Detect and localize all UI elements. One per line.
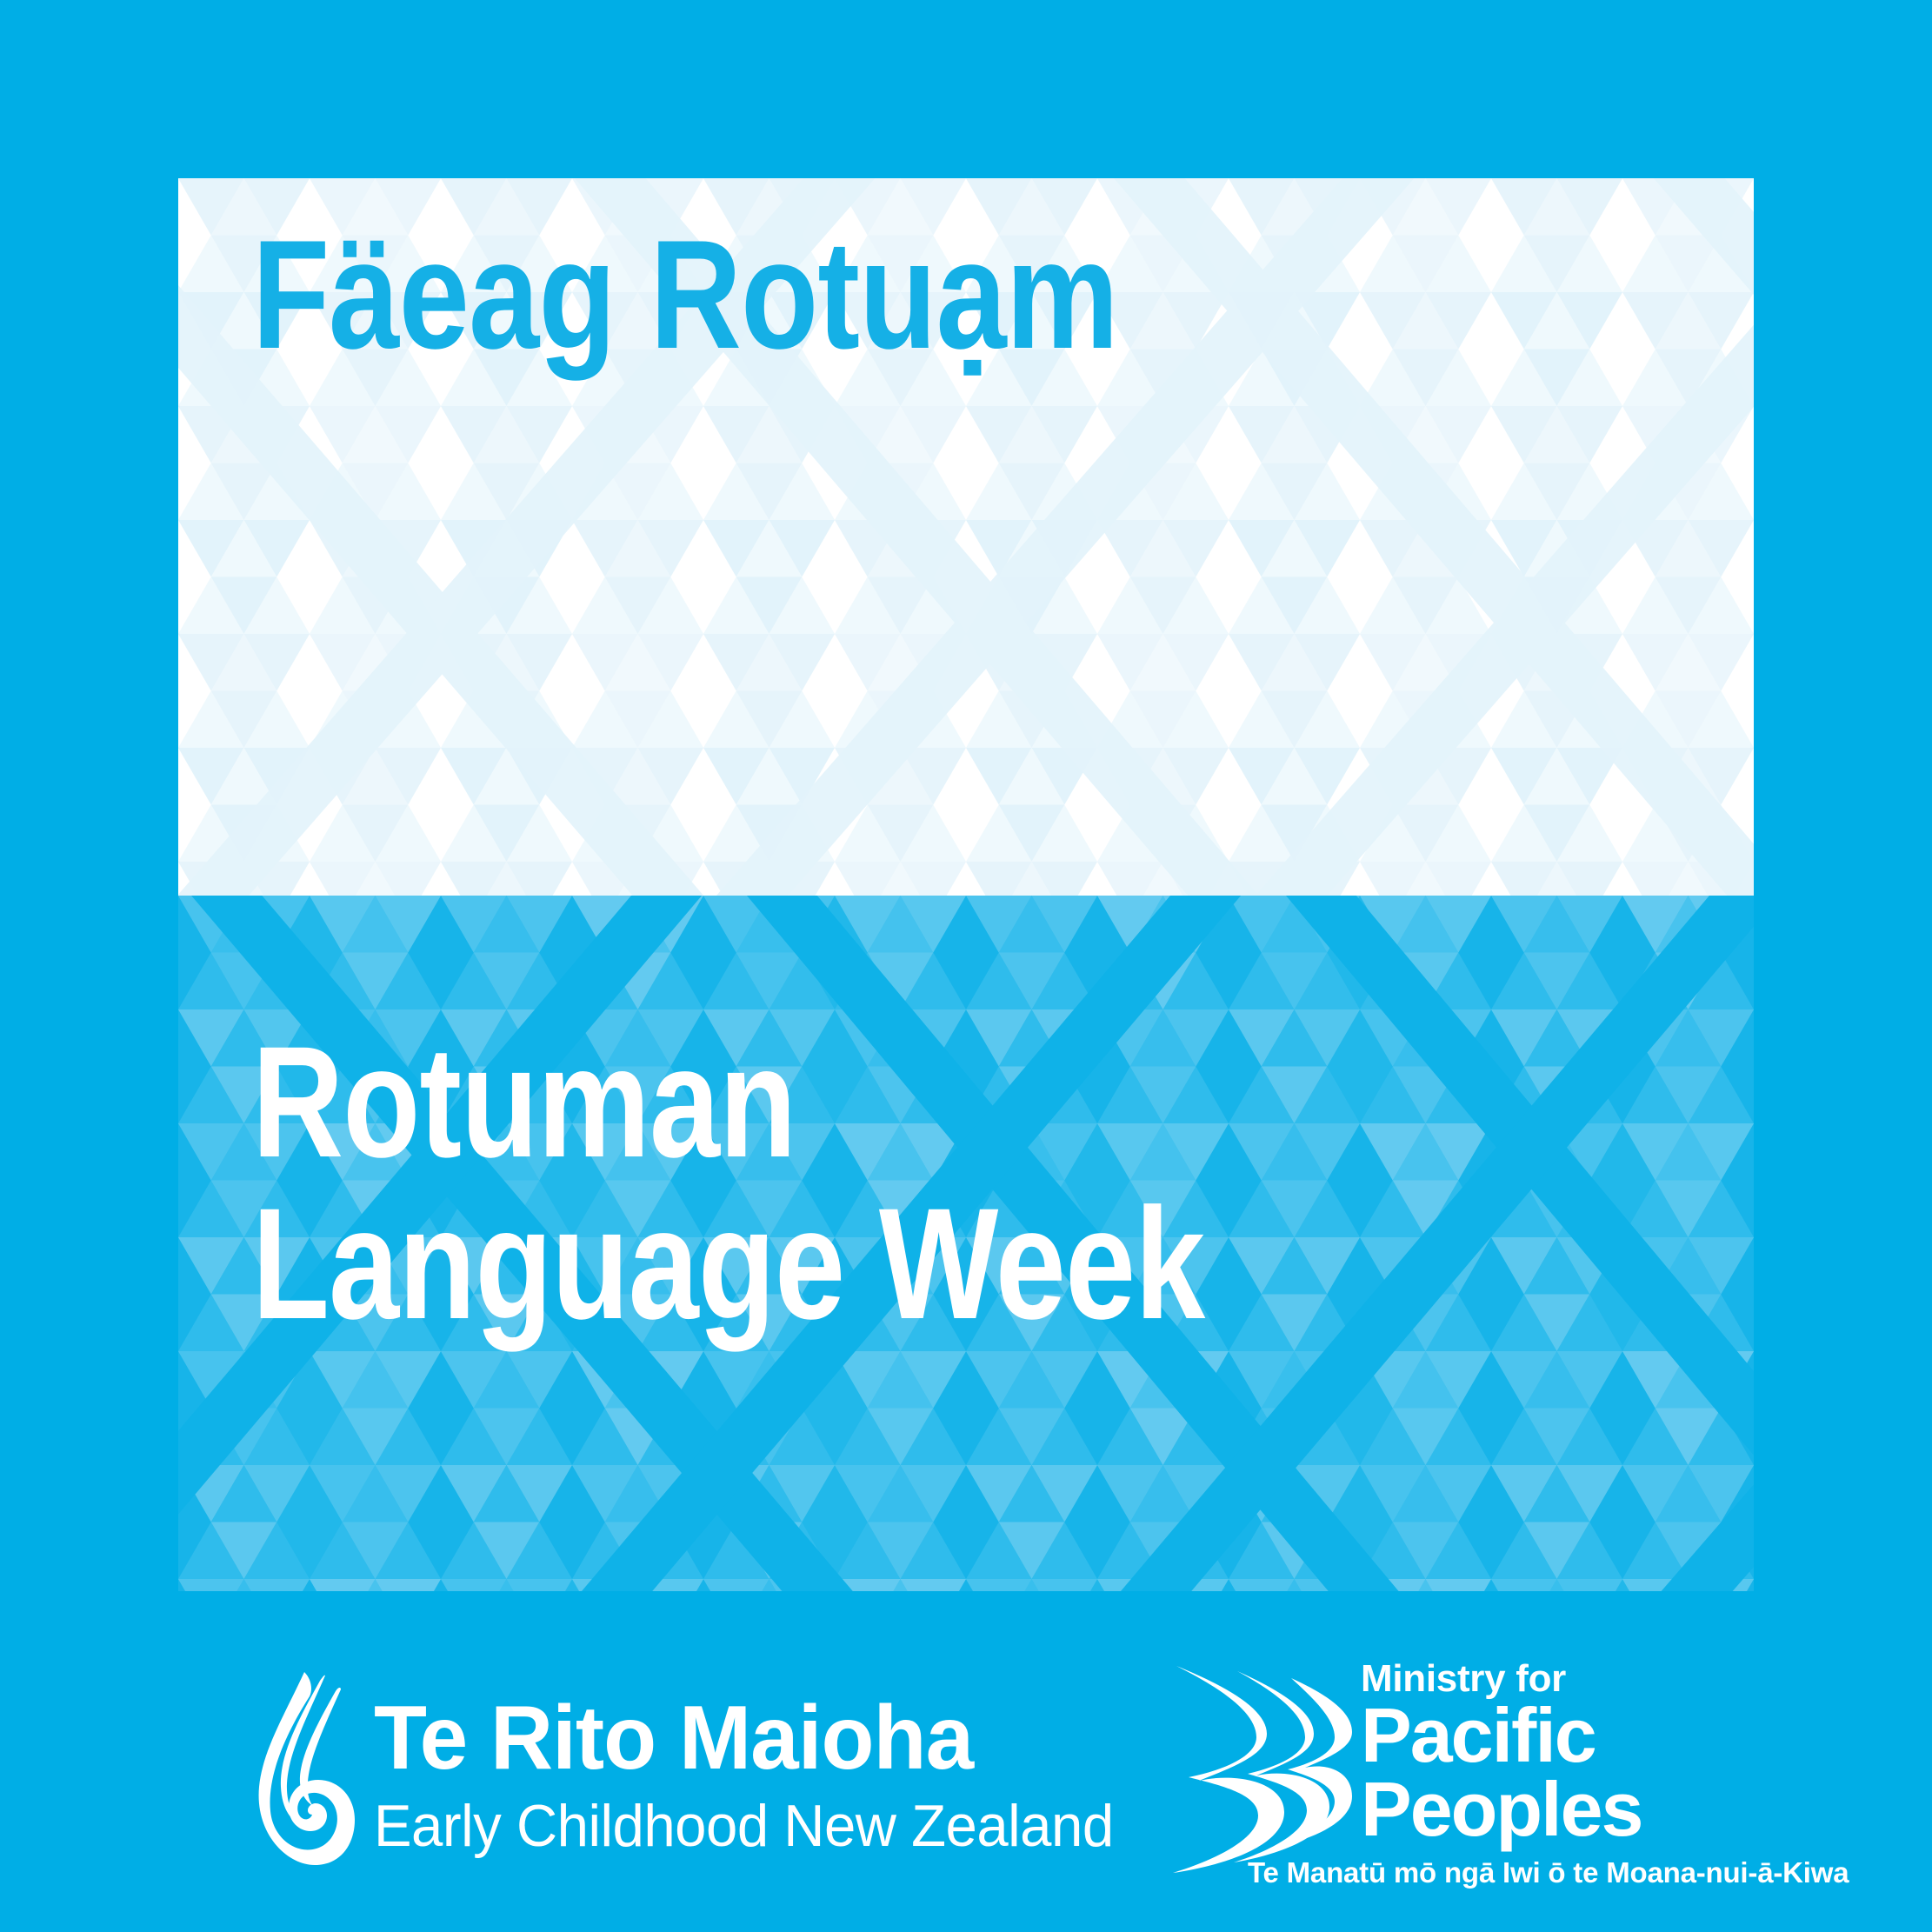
top-panel: Fäeag Rotuạm xyxy=(178,178,1754,896)
logo-te-rito-maioha: Te Rito Maioha Early Childhood New Zeala… xyxy=(250,1674,1144,1870)
logo-mpp-pacific: Pacific xyxy=(1361,1699,1849,1772)
title-english-line2: Language Week xyxy=(252,1183,1449,1345)
footer-logos: Te Rito Maioha Early Childhood New Zeala… xyxy=(0,1626,1932,1913)
three-waves-icon xyxy=(1169,1659,1352,1876)
logo-brand-name: Te Rito Maioha xyxy=(374,1693,1114,1783)
koru-spiral-icon xyxy=(250,1670,355,1870)
poster-card: Fäeag Rotuạm xyxy=(178,178,1754,1591)
title-rotuman-block: Fäeag Rotuạm xyxy=(252,217,1643,372)
logo-brand-tagline: Early Childhood New Zealand xyxy=(374,1792,1114,1860)
logo-te-rito-maioha-text: Te Rito Maioha Early Childhood New Zeala… xyxy=(374,1674,1144,1860)
logo-mpp-text: Ministry for Pacific Peoples Te Manatū m… xyxy=(1361,1659,1849,1887)
bottom-panel: Rotuman Language Week xyxy=(178,896,1754,1591)
title-rotuman-text: Fäeag Rotuạm xyxy=(252,217,1393,372)
poster-root: Fäeag Rotuạm xyxy=(0,0,1932,1932)
title-english-block: Rotuman Language Week xyxy=(252,1022,1748,1344)
logo-ministry-pacific-peoples: Ministry for Pacific Peoples Te Manatū m… xyxy=(1169,1659,1849,1887)
title-english-line1: Rotuman xyxy=(252,1022,1449,1183)
logo-mpp-peoples: Peoples xyxy=(1361,1773,1849,1846)
logo-mpp-maori-name: Te Manatū mō ngā Iwi ō te Moana-nui-ā-Ki… xyxy=(1248,1858,1849,1887)
